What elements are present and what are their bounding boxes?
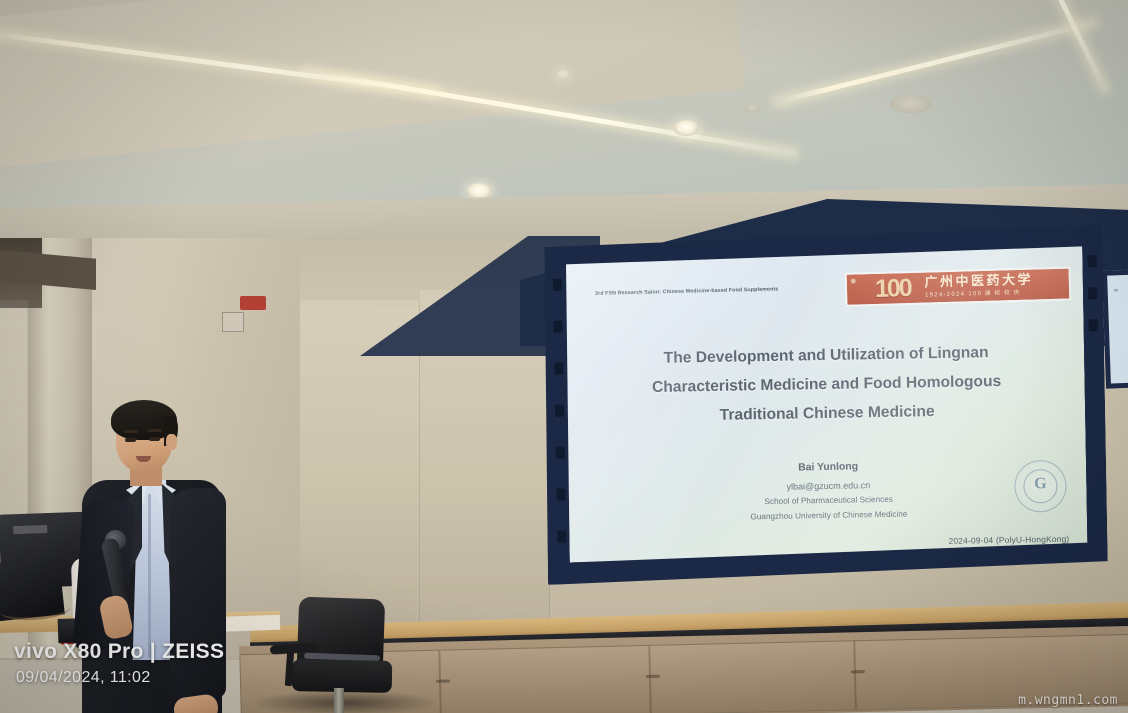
presenter-ear — [166, 434, 177, 450]
screen-mount-clip — [1089, 319, 1098, 331]
screen-mount-clip — [556, 447, 565, 459]
university-centenary-banner: 100 广州中医药大学 1924-2024 100 建 校 校 庆 — [845, 267, 1072, 307]
camera-watermark-timestamp: 09/04/2024, 11:02 — [16, 669, 151, 687]
presenter-right-arm — [170, 488, 226, 698]
slide-surface: 3rd FSN Research Salon: Chinese Medicine… — [564, 245, 1087, 562]
projection-screen: 3rd FSN Research Salon: Chinese Medicine… — [542, 225, 1108, 585]
presenter-eyebrow — [124, 430, 138, 433]
screen-mount-clip — [557, 531, 566, 543]
cabinet-handle[interactable] — [436, 679, 450, 682]
screen-mount-clip — [556, 489, 565, 501]
centenary-years: 1924-2024 100 建 校 校 庆 — [925, 288, 1034, 299]
centenary-numeral: 100 — [875, 275, 911, 301]
slide-event-header: 3rd FSN Research Salon: Chinese Medicine… — [595, 285, 845, 297]
office-chair[interactable] — [272, 598, 412, 713]
cabinet-handle[interactable] — [646, 675, 660, 678]
chair-gas-cylinder — [334, 688, 344, 713]
university-seal-icon: G — [1014, 460, 1067, 513]
ceiling-speaker — [890, 95, 932, 113]
camera-watermark-brand: vivo X80 Pro | ZEISS — [14, 640, 224, 664]
cabinet-handle[interactable] — [851, 670, 865, 673]
screen-mount-clip — [553, 321, 562, 333]
emergency-sign — [240, 296, 266, 310]
screen-mount-clip — [1087, 255, 1096, 267]
university-name-chinese-block: 广州中医药大学 1924-2024 100 建 校 校 庆 — [924, 273, 1033, 299]
secondary-display: Ite — [1102, 269, 1128, 388]
slide-title: The Development and Utilization of Lingn… — [600, 338, 1053, 432]
wall-control-panel[interactable] — [222, 312, 244, 332]
ceiling-led-strip — [1002, 0, 1107, 92]
seal-glyph: G — [1015, 475, 1065, 494]
secondary-display-text: Ite — [1114, 287, 1119, 292]
site-watermark: m.wngmn1.com — [1018, 693, 1118, 708]
screen-mount-clip — [555, 405, 564, 417]
screenshot-root: Ite 3rd FSN Research Salon: Chinese Medi… — [0, 0, 1128, 713]
screen-mount-clip — [1088, 287, 1097, 299]
presenter-person — [78, 400, 228, 713]
screen-mount-clip — [553, 279, 562, 291]
ceiling-downlight — [673, 120, 699, 136]
presenter-eyebrow — [148, 429, 162, 432]
presenter-eye — [149, 437, 160, 441]
ceiling-downlight — [556, 70, 570, 79]
presenter-eye — [125, 438, 136, 442]
ceiling-led-strip — [774, 20, 1095, 105]
cabinet-door[interactable] — [439, 645, 651, 713]
shirt-placket — [148, 494, 151, 658]
cabinet-door[interactable] — [649, 640, 856, 713]
ceiling-downlight — [744, 103, 760, 113]
banner-corner-dot — [851, 279, 856, 284]
monitor-brand-plate — [13, 525, 47, 534]
screen-mount-clip — [554, 363, 563, 375]
slide-presenter-block: Bai Yunlong ylbai@gzucm.edu.cn School of… — [602, 454, 1055, 527]
